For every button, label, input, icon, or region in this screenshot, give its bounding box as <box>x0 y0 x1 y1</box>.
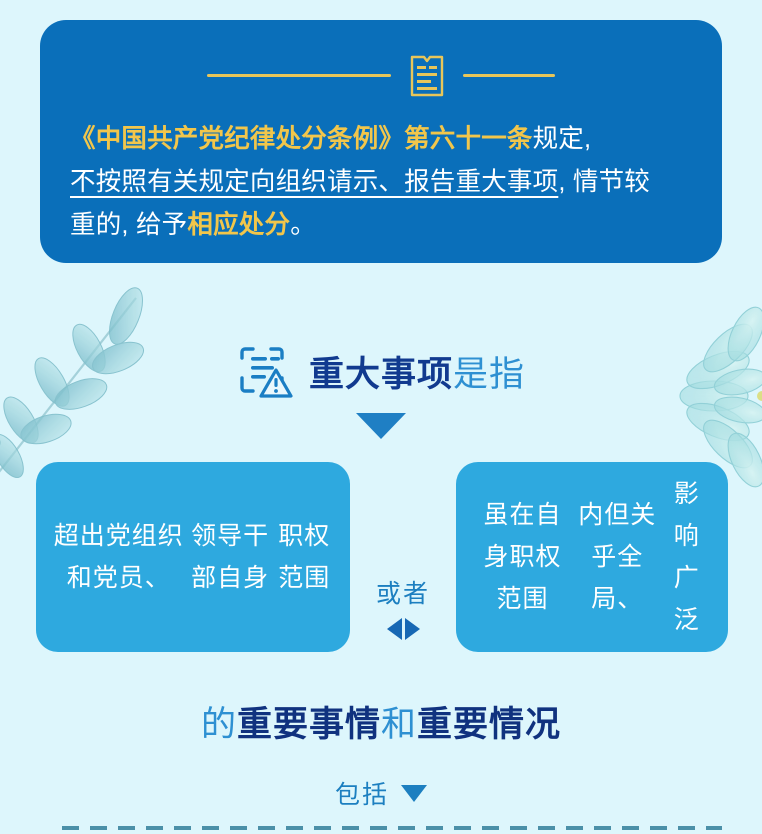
quote-penalty-emphasis: 相应处分 <box>187 211 290 239</box>
quote-underlined-clause: 不按照有关规定向组织请示、报告重大事项 <box>70 168 558 196</box>
option-box-line: 职权范围 <box>275 515 334 599</box>
left-right-triangles-icon <box>356 618 450 640</box>
result-statement: 的重要事情和重要情况 <box>0 696 762 747</box>
divider-line-left <box>207 74 391 77</box>
section-heading-text: 重大事项是指 <box>309 346 525 397</box>
quote-line-3: 重的, 给予相应处分。 <box>70 204 692 247</box>
result-emphasis-1: 重要事情 <box>237 705 381 744</box>
quote-line-2-tail: , 情节较 <box>558 168 650 196</box>
option-box-right[interactable]: 虽在自身职权范围内但关乎全局、影响广泛 <box>456 462 728 652</box>
triangle-left-icon <box>387 618 402 640</box>
section-heading-emphasis: 重大事项 <box>309 355 453 394</box>
document-warning-icon <box>237 344 293 398</box>
card-divider-row <box>70 46 692 104</box>
option-box-line: 内但关乎全局、 <box>573 494 661 620</box>
option-box-line: 领导干部自身 <box>186 515 275 599</box>
quote-line-1: 《中国共产党纪律处分条例》第六十一条规定, <box>70 118 692 161</box>
caret-down-icon <box>401 785 427 802</box>
divider-line-right <box>463 74 555 77</box>
connector-label: 或者 <box>356 578 450 610</box>
options-connector: 或者 <box>356 578 450 640</box>
quote-line-1-tail: 规定, <box>533 125 592 153</box>
triangle-down-icon <box>356 413 406 439</box>
triangle-right-icon <box>405 618 420 640</box>
result-middle: 和 <box>381 705 417 744</box>
option-box-line: 虽在自身职权范围 <box>472 494 573 620</box>
regulation-quote-card: 《中国共产党纪律处分条例》第六十一条规定, 不按照有关规定向组织请示、报告重大事… <box>40 20 722 263</box>
section-heading-trailing: 是指 <box>453 355 525 394</box>
section-heading: 重大事项是指 <box>0 344 762 398</box>
include-row: 包括 <box>0 775 762 811</box>
option-box-left[interactable]: 超出党组织和党员、领导干部自身职权范围 <box>36 462 350 652</box>
option-box-line: 影响广泛 <box>661 473 712 641</box>
quote-line-3-tail: 。 <box>290 211 316 239</box>
quote-line-3-head: 重的, 给予 <box>70 211 187 239</box>
include-label: 包括 <box>335 775 389 811</box>
quote-regulation-title: 《中国共产党纪律处分条例》第六十一条 <box>70 125 533 153</box>
regulation-quote-text: 《中国共产党纪律处分条例》第六十一条规定, 不按照有关规定向组织请示、报告重大事… <box>70 118 692 247</box>
result-prefix: 的 <box>201 705 237 744</box>
result-emphasis-2: 重要情况 <box>417 705 561 744</box>
clipboard-document-icon <box>407 51 447 99</box>
quote-line-2: 不按照有关规定向组织请示、报告重大事项, 情节较 <box>70 161 692 204</box>
footer-dashed-rule <box>62 826 722 830</box>
option-box-line: 超出党组织和党员、 <box>52 515 186 599</box>
